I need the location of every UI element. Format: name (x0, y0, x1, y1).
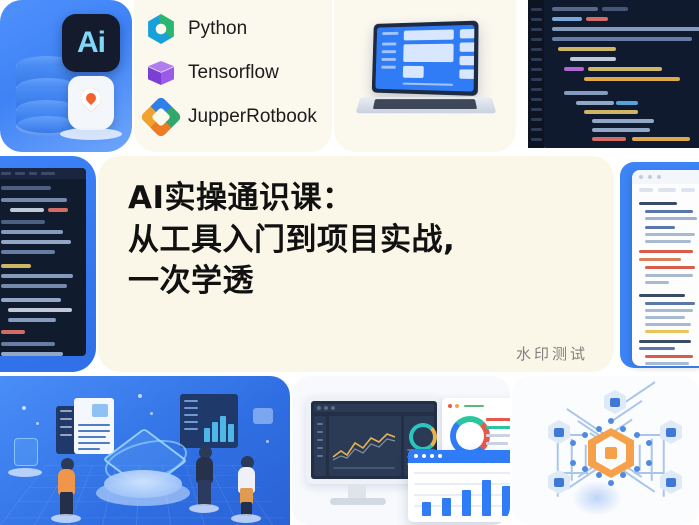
editor-toolbar (0, 168, 86, 179)
code-editor-tile (518, 0, 699, 152)
bar (482, 480, 491, 516)
iso-podium (104, 470, 182, 498)
iso-document-screen (74, 398, 114, 454)
laptop-screen (372, 21, 479, 96)
tool-label: JupperRotbook (188, 106, 317, 128)
network-glow (572, 480, 622, 516)
pin-base (60, 128, 122, 140)
location-pin-icon (68, 76, 114, 130)
document-card (632, 170, 699, 366)
jupyter-logo-icon (140, 96, 182, 138)
tool-label: Python (188, 18, 247, 40)
tool-logos-card: Python Tensorflow JupperRotbook (134, 0, 332, 152)
title-line-1: AI实操通识课： (128, 178, 596, 220)
tool-item-tensorflow[interactable]: Tensorflow (146, 58, 279, 88)
poster-canvas: Ai Python Tensorflow JupperRotbook (0, 0, 699, 525)
python-logo-icon (146, 14, 176, 44)
document-titlebar (632, 170, 699, 184)
iso-chart-screen (180, 394, 238, 448)
code-surface (528, 0, 699, 148)
line-number-gutter (528, 0, 544, 148)
isometric-tech-illustration-tile (0, 376, 290, 525)
tool-label: Tensorflow (188, 62, 279, 84)
analytics-dashboard-tile (292, 376, 510, 525)
watermark-text: 水印测试 (516, 343, 588, 364)
bar (442, 498, 451, 516)
donut-chart (409, 423, 437, 451)
laptop-mockup-tile (334, 0, 516, 152)
iso-floating-folder (253, 408, 273, 424)
tool-item-python[interactable]: Python (146, 14, 247, 44)
bar (462, 490, 471, 516)
iso-floating-badge (14, 438, 38, 466)
ai-badge-icon: Ai (62, 14, 120, 72)
code-editor-blue-tile (0, 156, 96, 372)
title-line-2: 从工具入门到项目实战, (128, 220, 596, 262)
network-node-top[interactable] (604, 390, 626, 414)
title-line-3: 一次学透 (128, 261, 596, 303)
bar (422, 502, 431, 516)
ai-badge-label: Ai (77, 26, 105, 60)
document-preview-tile (616, 156, 699, 372)
iso-badge-base (8, 468, 42, 477)
course-title-card: AI实操通识课： 从工具入门到项目实战, 一次学透 水印测试 (98, 156, 614, 372)
network-hexagon-tile (512, 376, 699, 525)
code-surface (0, 168, 86, 356)
network-node-bottom-left[interactable] (548, 470, 570, 494)
title-block: AI实操通识课： 从工具入门到项目实战, 一次学透 (128, 178, 596, 303)
line-chart (331, 429, 397, 463)
bar-chart-window (408, 450, 510, 522)
laptop-keyboard (373, 99, 477, 109)
bar (502, 486, 510, 516)
monitor-foot (330, 498, 386, 505)
tool-item-jupyter[interactable]: JupperRotbook (146, 102, 317, 132)
ai-database-tile: Ai (0, 0, 132, 152)
donut-summary-card (442, 398, 510, 456)
tensorflow-logo-icon (146, 58, 176, 88)
network-node-top-left[interactable] (548, 420, 570, 444)
